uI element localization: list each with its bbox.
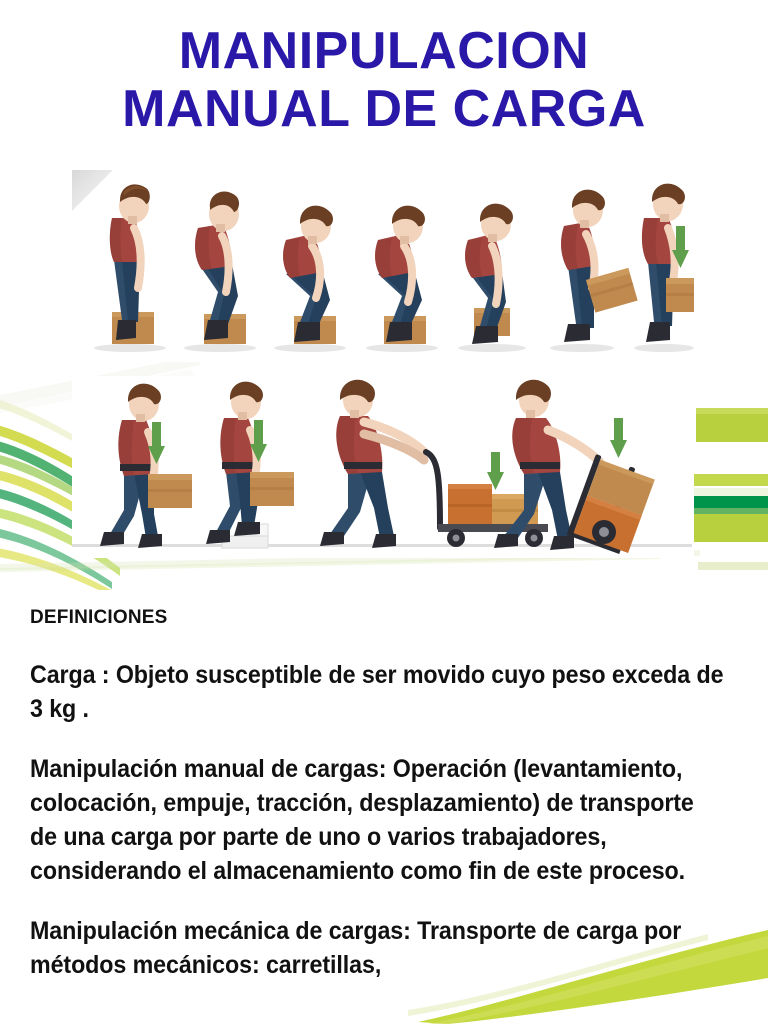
figure-pushing-platform-cart	[320, 380, 548, 548]
definition-paragraph-manipulacion-mecanica: Manipulación mecánica de cargas: Transpo…	[30, 914, 727, 982]
lifting-sequence-svg	[72, 170, 694, 362]
image-folded-corner	[72, 170, 118, 214]
title-line-1: MANIPULACION	[0, 22, 768, 80]
figure-frame-2	[195, 192, 246, 344]
figure-pulling-hand-truck	[494, 380, 656, 557]
figure-frame-4	[375, 206, 426, 344]
definitions-text-block: DEFINICIONES Carga : Objeto susceptible …	[30, 606, 730, 1008]
figure-frame-6	[561, 190, 638, 342]
figure-walking-with-box	[100, 384, 192, 548]
slide-canvas: MANIPULACION MANUAL DE CARGA	[0, 0, 768, 1024]
transport-sequence-svg	[72, 376, 694, 558]
illustration-transport-sequence	[72, 376, 694, 558]
green-down-arrow-icon	[610, 418, 627, 458]
title-line-2: MANUAL DE CARGA	[0, 80, 768, 138]
page-title: MANIPULACION MANUAL DE CARGA	[0, 22, 768, 138]
definitions-heading: DEFINICIONES	[30, 606, 730, 630]
figure-frame-5	[465, 204, 513, 344]
figure-climbing-stairs-with-box	[206, 382, 294, 544]
figure-frame-3	[283, 206, 336, 344]
definition-paragraph-manipulacion-manual: Manipulación manual de cargas: Operación…	[30, 752, 727, 888]
definition-paragraph-carga: Carga : Objeto susceptible de ser movido…	[30, 658, 727, 726]
figure-frame-7	[642, 184, 694, 342]
illustration-lifting-sequence	[72, 170, 694, 362]
